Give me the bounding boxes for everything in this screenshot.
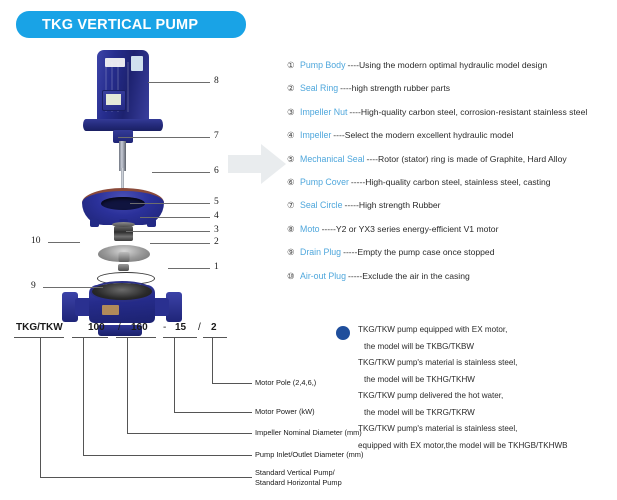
feature-item-3: ③ Impeller Nut ---- High-quality carbon … <box>287 107 617 130</box>
callout-number-1: 1 <box>214 262 219 272</box>
feature-dash: ----- <box>345 200 359 210</box>
callout-line-4 <box>140 217 210 218</box>
feature-name: Impeller <box>300 130 331 140</box>
motor-icon <box>97 50 149 122</box>
callout-line-7 <box>118 137 210 138</box>
segment-underline-power <box>163 337 197 338</box>
feature-number: ⑤ <box>287 154 300 164</box>
leader-vline-impeller <box>127 337 128 433</box>
segment-underline-inlet <box>72 337 108 338</box>
feature-description: High-quality carbon steel, stainless ste… <box>365 177 550 187</box>
code-segment-impeller: 160 <box>131 322 148 333</box>
feature-number: ⑩ <box>287 271 300 281</box>
feature-item-10: ⑩ Air-out Plug ----- Exclude the air in … <box>287 271 617 294</box>
leader-hline-series <box>40 477 252 478</box>
feature-name: Drain Plug <box>300 247 341 257</box>
feature-number: ① <box>287 60 300 70</box>
feature-number: ④ <box>287 130 300 140</box>
nomenclature-label-series-line1: Standard Vertical Pump/ <box>255 468 335 478</box>
feature-name: Seal Ring <box>300 83 338 93</box>
motor-label-icon <box>131 56 143 71</box>
callout-number-9: 9 <box>31 281 36 291</box>
feature-list: ① Pump Body ---- Using the modern optima… <box>287 60 617 294</box>
callout-number-10: 10 <box>31 236 41 246</box>
segment-underline-series <box>14 337 64 338</box>
motor-terminal-box-icon <box>102 90 126 111</box>
feature-description: Rotor (stator) ring is made of Graphite,… <box>378 154 567 164</box>
leader-vline-pole <box>212 337 213 383</box>
nomenclature-label-series-line2: Standard Horizontal Pump <box>255 478 342 488</box>
code-segment-power: 15 <box>175 322 186 333</box>
motor-nameplate-icon <box>105 58 125 67</box>
callout-line-6 <box>152 172 210 173</box>
impeller-icon <box>98 245 150 262</box>
feature-item-9: ⑨ Drain Plug ----- Empty the pump case o… <box>287 247 617 270</box>
feature-dash: ----- <box>348 271 362 281</box>
feature-dash: ----- <box>322 224 336 234</box>
feature-dash: ---- <box>340 83 351 93</box>
code-separator-3: / <box>198 322 201 333</box>
callout-line-10 <box>48 242 80 243</box>
feature-description: Y2 or YX3 series energy-efficient V1 mot… <box>336 224 499 234</box>
feature-dash: ---- <box>367 154 378 164</box>
feature-item-8: ⑧ Moto ----- Y2 or YX3 series energy-eff… <box>287 224 617 247</box>
feature-description: High-quality carbon steel, corrosion-res… <box>361 107 587 117</box>
leader-vline-inlet <box>83 337 84 455</box>
feature-number: ⑥ <box>287 177 300 187</box>
feature-number: ⑨ <box>287 247 300 257</box>
impeller-nut-icon <box>118 264 129 271</box>
pump-exploded-diagram: 8 7 6 5 4 3 2 1 10 9 <box>0 40 250 300</box>
code-segment-inlet: 100 <box>88 322 105 333</box>
callout-number-7: 7 <box>214 131 219 141</box>
callout-number-8: 8 <box>214 76 219 86</box>
feature-description: Using the modern optimal hydraulic model… <box>359 60 547 70</box>
variant-line: the model will be TKRG/TKRW <box>336 405 616 422</box>
model-variants-list: TKG/TKW pump equipped with EX motor, the… <box>336 322 616 454</box>
leader-vline-power <box>174 337 175 412</box>
callout-line-2 <box>150 243 210 244</box>
feature-name: Impeller Nut <box>300 107 347 117</box>
callout-line-3 <box>126 231 210 232</box>
feature-name: Pump Cover <box>300 177 349 187</box>
feature-dash: ---- <box>333 130 344 140</box>
feature-name: Air-out Plug <box>300 271 346 281</box>
feature-item-1: ① Pump Body ---- Using the modern optima… <box>287 60 617 83</box>
variant-line: equipped with EX motor,the model will be… <box>336 438 616 455</box>
callout-line-1 <box>168 268 210 269</box>
feature-item-6: ⑥ Pump Cover ----- High-quality carbon s… <box>287 177 617 200</box>
pump-cover-icon <box>82 188 164 225</box>
callout-number-3: 3 <box>214 225 219 235</box>
callout-line-9 <box>43 287 103 288</box>
leader-hline-pole <box>212 383 252 384</box>
code-separator-2: - <box>163 322 166 333</box>
feature-dash: ---- <box>347 60 358 70</box>
code-segment-series: TKG/TKW <box>16 322 63 333</box>
feature-number: ③ <box>287 107 300 117</box>
feature-name: Pump Body <box>300 60 345 70</box>
variant-line: TKG/TKW pump delivered the hot water, <box>336 388 616 405</box>
callout-line-8 <box>148 82 210 83</box>
leader-vline-series <box>40 337 41 477</box>
segment-underline-pole <box>203 337 227 338</box>
feature-description: High strength Rubber <box>359 200 441 210</box>
motor-shaft-icon <box>119 141 126 171</box>
callout-line-5 <box>130 203 210 204</box>
nomenclature-label-pole: Motor Pole (2,4,6,) <box>255 378 316 388</box>
feature-name: Seal Circle <box>300 200 343 210</box>
feature-number: ⑧ <box>287 224 300 234</box>
page-title-banner: TKG VERTICAL PUMP <box>16 11 246 38</box>
callout-number-5: 5 <box>214 197 219 207</box>
feature-dash: ---- <box>349 107 360 117</box>
callout-number-4: 4 <box>214 211 219 221</box>
arrow-right-icon <box>228 142 288 186</box>
nomenclature-label-power: Motor Power (kW) <box>255 407 315 417</box>
feature-description: Select the modern excellent hydraulic mo… <box>345 130 514 140</box>
variant-line: TKG/TKW pump equipped with EX motor, <box>336 322 616 339</box>
feature-dash: ----- <box>343 247 357 257</box>
feature-description: Exclude the air in the casing <box>362 271 470 281</box>
feature-dash: ----- <box>351 177 365 187</box>
feature-description: Empty the pump case once stopped <box>357 247 494 257</box>
bullet-point-icon <box>336 326 350 340</box>
feature-name: Mechanical Seal <box>300 154 365 164</box>
feature-item-4: ④ Impeller ---- Select the modern excell… <box>287 130 617 153</box>
callout-number-6: 6 <box>214 166 219 176</box>
code-separator-1: / <box>118 322 121 333</box>
feature-item-5: ⑤ Mechanical Seal ---- Rotor (stator) ri… <box>287 154 617 177</box>
feature-number: ⑦ <box>287 200 300 210</box>
leader-hline-inlet <box>83 455 252 456</box>
variant-line: the model will be TKHG/TKHW <box>336 372 616 389</box>
feature-description: high strength rubber parts <box>352 83 450 93</box>
callout-number-2: 2 <box>214 237 219 247</box>
variant-line: the model will be TKBG/TKBW <box>336 339 616 356</box>
model-nomenclature-diagram: TKG/TKW 100 / 160 - 15 / 2 Motor Pole (2… <box>0 310 320 500</box>
variant-line: TKG/TKW pump's material is stainless ste… <box>336 355 616 372</box>
leader-hline-power <box>174 412 252 413</box>
shaft-extension-icon <box>121 168 124 190</box>
leader-hline-impeller <box>127 433 252 434</box>
feature-number: ② <box>287 83 300 93</box>
variant-line: TKG/TKW pump's material is stainless ste… <box>336 421 616 438</box>
code-segment-pole: 2 <box>211 322 217 333</box>
feature-item-7: ⑦ Seal Circle ----- High strength Rubber <box>287 200 617 223</box>
segment-underline-impeller <box>116 337 156 338</box>
product-spec-page: TKG VERTICAL PUMP <box>0 0 617 500</box>
feature-name: Moto <box>300 224 320 234</box>
feature-item-2: ② Seal Ring ---- high strength rubber pa… <box>287 83 617 106</box>
page-title: TKG VERTICAL PUMP <box>42 17 198 33</box>
mechanical-seal-icon <box>114 226 133 241</box>
